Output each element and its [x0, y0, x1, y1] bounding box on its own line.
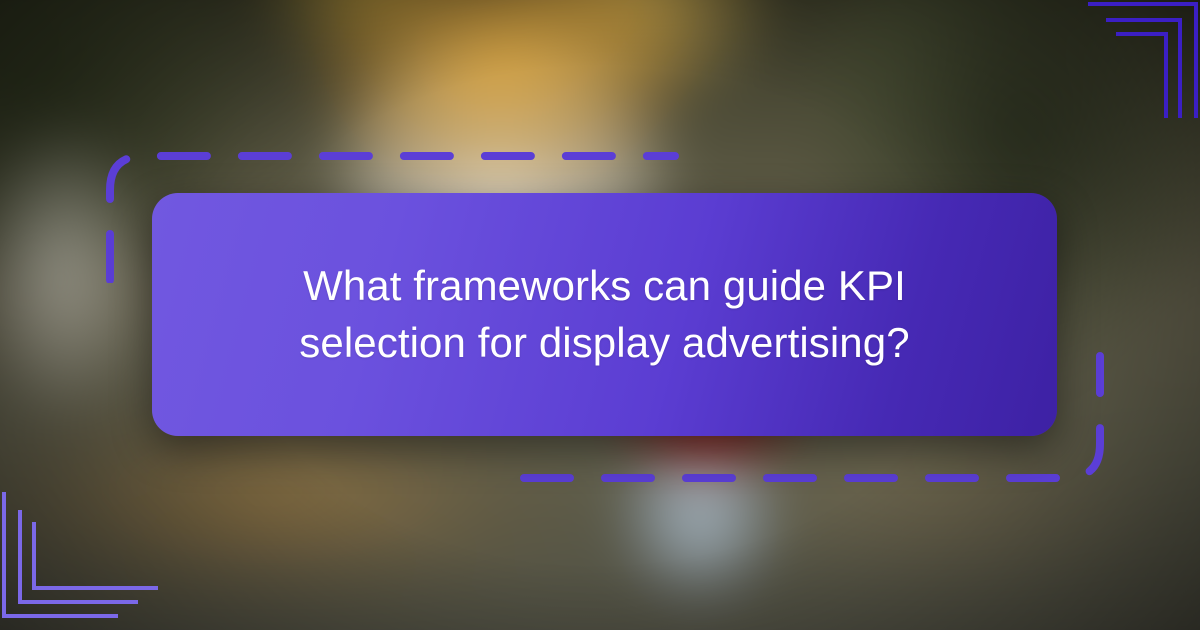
question-text: What frameworks can guide KPI selection … [216, 258, 993, 371]
question-card: What frameworks can guide KPI selection … [152, 193, 1057, 436]
og-image-canvas: What frameworks can guide KPI selection … [0, 0, 1200, 630]
